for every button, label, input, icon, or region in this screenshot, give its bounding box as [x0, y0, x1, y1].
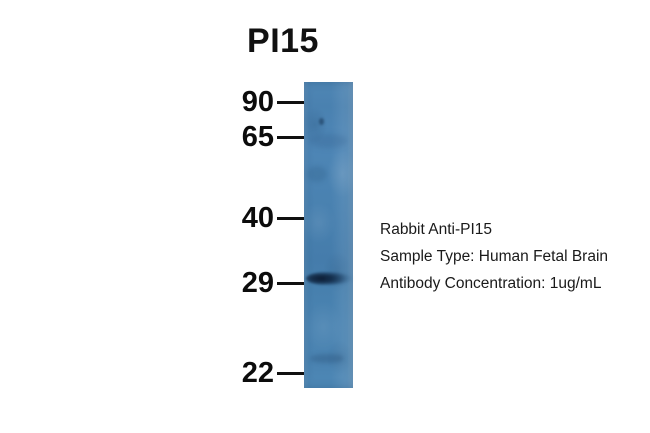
- ladder-marker-label: 22: [228, 359, 274, 388]
- ladder-marker-dash: [277, 372, 307, 375]
- ladder-marker-65: 65: [228, 122, 307, 152]
- ladder-marker-label: 90: [228, 88, 274, 117]
- ladder-marker-label: 65: [228, 123, 274, 152]
- faint-band-low-mw: [310, 354, 344, 363]
- ladder-marker-40: 40: [228, 203, 307, 233]
- ladder-marker-label: 40: [228, 204, 274, 233]
- annotation-concentration: Antibody Concentration: 1ug/mL: [380, 270, 648, 297]
- ladder-marker-dash: [277, 282, 307, 285]
- primary-band-tail: [326, 274, 352, 283]
- ladder-marker-dash: [277, 217, 307, 220]
- gel-lane: [304, 82, 353, 388]
- ladder-marker-29: 29: [228, 268, 307, 298]
- ladder-marker-label: 29: [228, 269, 274, 298]
- gel-speck: [319, 118, 324, 125]
- page-title: PI15: [0, 22, 608, 61]
- annotation-sample-type: Sample Type: Human Fetal Brain: [380, 243, 648, 270]
- annotation-block: Rabbit Anti-PI15 Sample Type: Human Feta…: [380, 216, 648, 297]
- annotation-antibody: Rabbit Anti-PI15: [380, 216, 648, 243]
- western-blot-figure: PI15 90 65 40 29 22: [0, 0, 650, 433]
- ladder-marker-22: 22: [228, 358, 307, 388]
- ladder-marker-90: 90: [228, 87, 307, 117]
- gel-smear: [307, 166, 327, 182]
- ladder-marker-dash: [277, 101, 307, 104]
- gel-lane-texture: [304, 82, 353, 388]
- faint-band-high-mw: [308, 134, 348, 148]
- ladder-marker-dash: [277, 136, 307, 139]
